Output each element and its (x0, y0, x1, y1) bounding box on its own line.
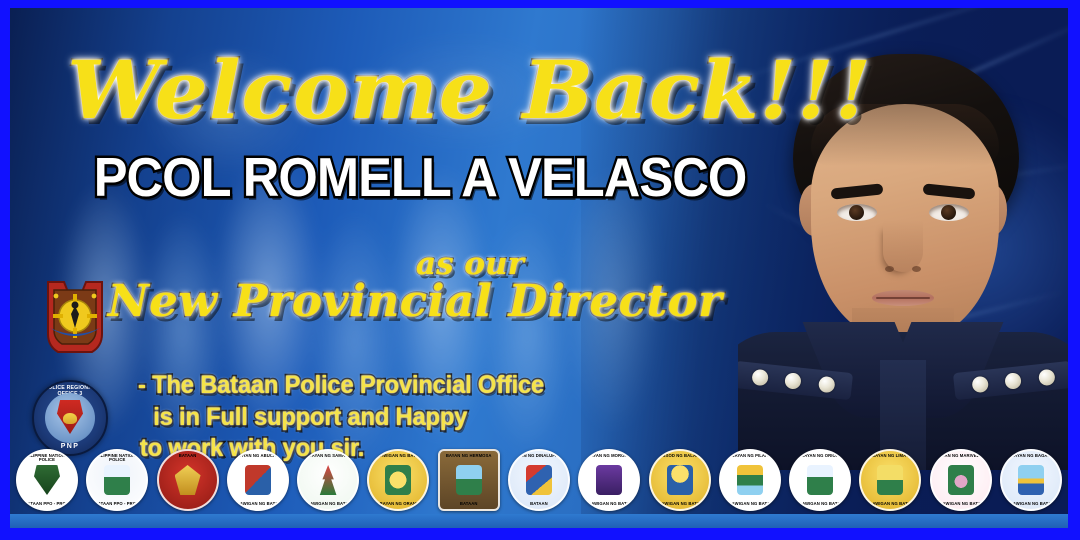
seal-emblem-icon (175, 465, 201, 495)
seal-emblem-icon (34, 465, 60, 495)
poster-canvas: Welcome Back!!! PCOL ROMELL A VELASCO as… (10, 8, 1068, 528)
pnp-shield-seal-icon (42, 276, 108, 358)
seal-bayan-ng-mariveles: BAYAN NG MARIVELESLALAWIGAN NG BATAAN (930, 449, 992, 511)
subheading-new-provincial-director: New Provincial Director (104, 280, 726, 324)
rank-pip-icon (818, 375, 836, 393)
seal-lungsod-ng-balanga: LUNGSOD NG BALANGALALAWIGAN NG BATAAN (649, 449, 711, 511)
seal-ring-top-text: LUNGSOD NG BALANGA (651, 454, 709, 458)
seal-emblem-icon (667, 465, 693, 495)
seal-bayan-ng-hermosa: BAYAN NG HERMOSABATAAN (438, 449, 500, 511)
seal-ring-top-text: BAYAN NG MARIVELES (932, 454, 990, 458)
seal-ring-top-text: LALAWIGAN NG BATAAN (369, 454, 427, 458)
rank-pip-icon (784, 372, 802, 390)
rank-pip-icon (1004, 372, 1022, 390)
seal-emblem-icon (737, 465, 763, 495)
seal-core (941, 460, 981, 500)
portrait-nostril-left (885, 266, 894, 272)
headline-welcome-back: Welcome Back!!! (67, 50, 837, 130)
seal-core (870, 460, 910, 500)
seal-core (800, 460, 840, 500)
seal-ring-bottom-text: LALAWIGAN NG BATAAN (791, 502, 849, 506)
seal-emblem-icon (1018, 465, 1044, 495)
seal-bayan-ng-bagac: BAYAN NG BAGACLALAWIGAN NG BATAAN (1000, 449, 1062, 511)
seal-emblem-icon (948, 465, 974, 495)
seal-core (519, 460, 559, 500)
seal-ring-bottom-text: BATAAN (510, 502, 568, 506)
rank-pip-icon (971, 375, 989, 393)
seal-emblem-icon (877, 465, 903, 495)
seal-core (660, 460, 700, 500)
seal-ring-bottom-text: LALAWIGAN NG BATAAN (651, 502, 709, 506)
seal-ring-bottom-text: LALAWIGAN NG BATAAN (299, 502, 357, 506)
seal-core (1011, 460, 1051, 500)
officer-name-heading: PCOL ROMELL A VELASCO (70, 150, 769, 205)
seal-ring-top-text: BAYAN NG ORION (791, 454, 849, 458)
seal-ring-top-text: BATAAN (159, 454, 217, 458)
seal-emblem-icon (385, 465, 411, 495)
seal-bayan-ng-morong: BAYAN NG MORONGLALAWIGAN NG BATAAN (578, 449, 640, 511)
seal-core (589, 460, 629, 500)
seal-core (168, 460, 208, 500)
seal-emblem-icon (104, 465, 130, 495)
portrait-eye-right (929, 204, 969, 221)
seal-core (97, 460, 137, 500)
seal-emblem-icon (456, 465, 482, 495)
seal-bayan-ng-orani: LALAWIGAN NG BATAANBAYAN NG ORANI (367, 449, 429, 511)
seal-bayan-ng-orion: BAYAN NG ORIONLALAWIGAN NG BATAAN (789, 449, 851, 511)
seal-emblem-icon (596, 465, 622, 495)
seal-ring-bottom-text: LALAWIGAN NG BATAAN (861, 502, 919, 506)
portrait-eye-left (837, 204, 877, 221)
rank-pip-icon (751, 368, 769, 386)
seal-core (449, 460, 489, 500)
message-line-2: is in Full support and Happy (138, 402, 594, 434)
seal-core (308, 460, 348, 500)
welcome-back-tarpaulin: Welcome Back!!! PCOL ROMELL A VELASCO as… (0, 0, 1080, 540)
seal-core (730, 460, 770, 500)
seal-core (378, 460, 418, 500)
portrait-nose (883, 220, 923, 272)
seal-ring-bottom-text: LALAWIGAN NG BATAAN (721, 502, 779, 506)
seal-ring-top-text: BAYAN NG ABUCAY (229, 454, 287, 458)
seal-ring-bottom-text: BATAAN PPO - PRO 3 (18, 502, 76, 506)
seal-ring-bottom-text: BATAAN (440, 502, 498, 506)
seal-ring-top-text: BAYAN NG LIMAY (861, 454, 919, 458)
municipal-seal-strip: PHILIPPINE NATIONAL POLICEBATAAN PPO - P… (10, 444, 1068, 516)
seal-bayan-ng-dinalupihan: BAYAN NG DINALUPIHANBATAAN (508, 449, 570, 511)
seal-bataan-province: BATAAN (157, 449, 219, 511)
seal-emblem-icon (526, 465, 552, 495)
portrait-mouth (872, 290, 934, 306)
seal-ring-top-text: BAYAN NG BAGAC (1002, 454, 1060, 458)
seal-core (238, 460, 278, 500)
rank-pip-icon (1038, 368, 1056, 386)
seal-ring-top-text: PHILIPPINE NATIONAL POLICE (18, 454, 76, 462)
seal-ring-top-text: BAYAN NG MORONG (580, 454, 638, 458)
seal-ring-top-text: BAYAN NG SAMAL (299, 454, 357, 458)
seal-ring-top-text: BAYAN NG HERMOSA (440, 454, 498, 458)
seal-emblem-icon (315, 465, 341, 495)
seal-emblem-icon (245, 465, 271, 495)
seal-bayan-ng-samal: BAYAN NG SAMALLALAWIGAN NG BATAAN (297, 449, 359, 511)
seal-ring-bottom-text: LALAWIGAN NG BATAAN (932, 502, 990, 506)
seal-bataan-ppo-pro3: PHILIPPINE NATIONAL POLICEBATAAN PPO - P… (16, 449, 78, 511)
message-line-1: - The Bataan Police Provincial Office (138, 370, 594, 402)
seal-bayan-ng-pilar: BAYAN NG PILARLALAWIGAN NG BATAAN (719, 449, 781, 511)
seal-ring-bottom-text: LALAWIGAN NG BATAAN (580, 502, 638, 506)
seal-bayan-ng-limay: BAYAN NG LIMAYLALAWIGAN NG BATAAN (859, 449, 921, 511)
seal-ring-bottom-text: LALAWIGAN NG BATAAN (1002, 502, 1060, 506)
seal-emblem-icon (807, 465, 833, 495)
bottom-band (10, 514, 1068, 528)
seal-ring-bottom-text: LALAWIGAN NG BATAAN (229, 502, 287, 506)
seal-bayan-ng-abucay: BAYAN NG ABUCAYLALAWIGAN NG BATAAN (227, 449, 289, 511)
seal-ring-top-text: BAYAN NG DINALUPIHAN (510, 454, 568, 458)
seal-ring-top-text: PHILIPPINE NATIONAL POLICE (88, 454, 146, 462)
seal-ring-bottom-text: BAYAN NG ORANI (369, 502, 427, 506)
seal-ring-top-text: BAYAN NG PILAR (721, 454, 779, 458)
seal-bataan-ppo-pro3-b: PHILIPPINE NATIONAL POLICEBATAAN PPO - P… (86, 449, 148, 511)
seal-ring-bottom-text: BATAAN PPO - PRO 3 (88, 502, 146, 506)
seal-core (27, 460, 67, 500)
portrait-nostril-right (912, 266, 921, 272)
